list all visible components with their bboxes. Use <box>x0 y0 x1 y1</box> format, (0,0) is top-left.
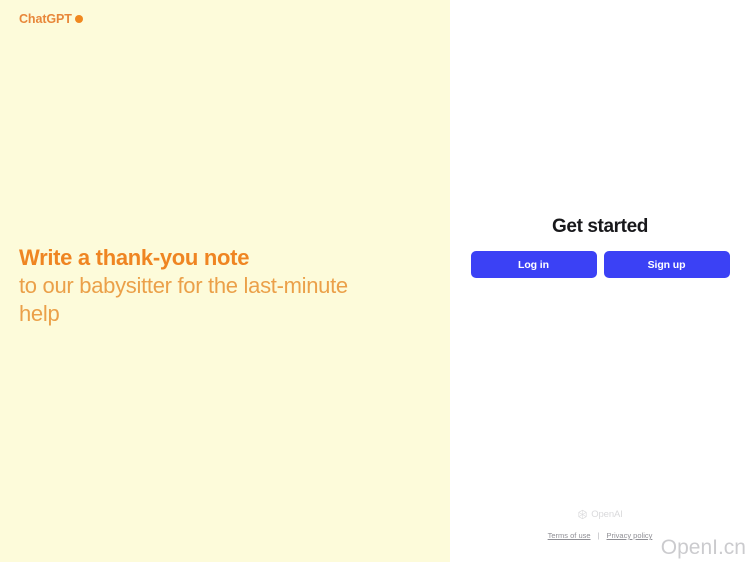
chatgpt-brand-logo: ChatGPT <box>19 12 83 26</box>
auth-button-group: Log in Sign up <box>471 251 730 278</box>
promo-panel: ChatGPT Write a thank-you note to our ba… <box>0 0 450 562</box>
openai-blossom-icon <box>577 509 588 520</box>
openai-logo: OpenAI <box>577 509 623 520</box>
chatgpt-wordmark: ChatGPT <box>19 12 72 26</box>
auth-center-block: Get started Log in Sign up <box>450 216 750 278</box>
orange-dot-icon <box>75 15 83 23</box>
get-started-title: Get started <box>552 216 648 238</box>
promo-headline-bold: Write a thank-you note <box>19 244 419 272</box>
legal-links: Terms of use | Privacy policy <box>548 531 653 540</box>
terms-of-use-link[interactable]: Terms of use <box>548 531 591 540</box>
promo-headline-line3: help <box>19 300 419 328</box>
auth-footer: OpenAI Terms of use | Privacy policy <box>450 509 750 540</box>
legal-separator: | <box>598 531 600 540</box>
promo-headline: Write a thank-you note to our babysitter… <box>19 244 419 328</box>
promo-headline-line2: to our babysitter for the last-minute <box>19 272 419 300</box>
openai-wordmark: OpenAI <box>591 509 623 520</box>
login-button[interactable]: Log in <box>471 251 597 278</box>
signup-button[interactable]: Sign up <box>604 251 730 278</box>
auth-panel: Get started Log in Sign up OpenAI Terms … <box>450 0 750 562</box>
privacy-policy-link[interactable]: Privacy policy <box>607 531 653 540</box>
page-root: ChatGPT Write a thank-you note to our ba… <box>0 0 750 562</box>
